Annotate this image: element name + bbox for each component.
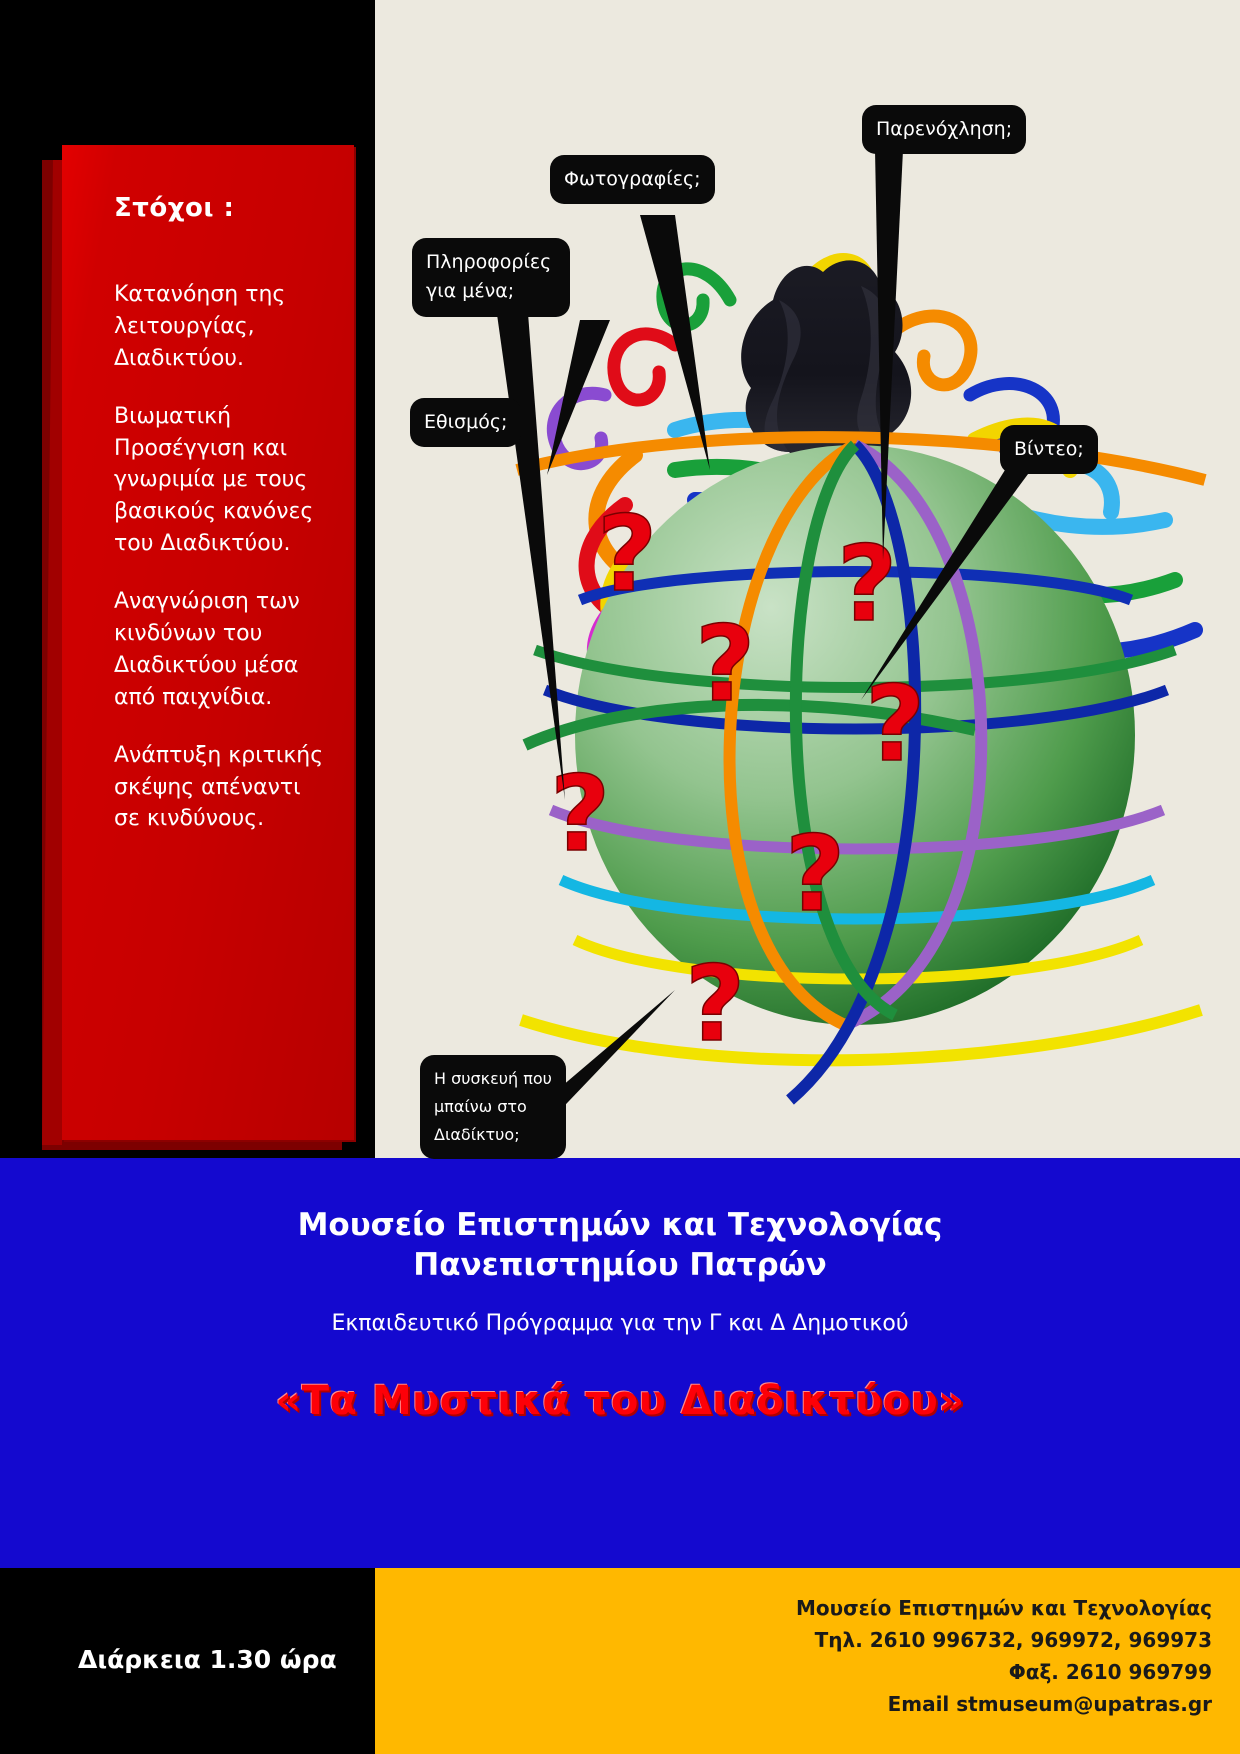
program-subtitle: Εκπαιδευτικό Πρόγραμμα για την Γ και Δ Δ… (0, 1311, 1240, 1336)
goal-item: Αναγνώριση των κινδύνων του Διαδικτύου μ… (114, 586, 324, 714)
svg-text:?: ? (837, 523, 897, 645)
svg-text:?: ? (695, 603, 755, 725)
program-title: «Τα Μυστικά του Διαδικτύου» (0, 1378, 1240, 1424)
globe-illustration: ? ? ? ? ? ? ? (375, 0, 1240, 1158)
bubble-addiction[interactable]: Εθισμός; (410, 398, 521, 447)
museum-name-line2: Πανεπιστημίου Πατρών (0, 1246, 1240, 1286)
bubble-harassment[interactable]: Παρενόχληση; (862, 105, 1026, 154)
svg-text:?: ? (785, 813, 845, 935)
contact-phone: Τηλ. 2610 996732, 969972, 969973 (796, 1624, 1212, 1656)
contact-box: Μουσείο Επιστημών και Τεχνολογίας Τηλ. 2… (375, 1568, 1240, 1754)
contact-email[interactable]: Email stmuseum@upatras.gr (796, 1688, 1212, 1720)
goal-item: Βιωματική Προσέγγιση και γνωριμία με του… (114, 401, 324, 560)
duration-label: Διάρκεια 1.30 ώρα (78, 1645, 337, 1674)
bubble-photos[interactable]: Φωτογραφίες; (550, 155, 715, 204)
svg-text:?: ? (685, 943, 745, 1065)
contact-fax: Φαξ. 2610 969799 (796, 1656, 1212, 1688)
contact-name: Μουσείο Επιστημών και Τεχνολογίας (796, 1592, 1212, 1624)
svg-text:?: ? (865, 663, 925, 785)
goals-card: Στόχοι : Κατανόηση της λειτουργίας, Διαδ… (62, 145, 354, 1140)
poster-root: ? ? ? ? ? ? ? Παρενόχληση; Φωτογραφίες; … (0, 0, 1240, 1754)
museum-banner: Μουσείο Επιστημών και Τεχνολογίας Πανεπι… (0, 1158, 1240, 1598)
goal-item: Ανάπτυξη κριτικής σκέψης απέναντι σε κιν… (114, 740, 324, 836)
artwork-panel: ? ? ? ? ? ? ? (375, 0, 1240, 1158)
bubble-video[interactable]: Βίντεο; (1000, 425, 1098, 474)
goal-item: Κατανόηση της λειτουργίας, Διαδικτύου. (114, 279, 324, 375)
museum-name-line1: Μουσείο Επιστημών και Τεχνολογίας (0, 1158, 1240, 1246)
svg-text:?: ? (550, 753, 610, 875)
bubble-info-about-me[interactable]: Πληροφορίες για μένα; (412, 238, 570, 317)
svg-text:?: ? (597, 493, 657, 615)
bubble-device[interactable]: Η συσκευή που μπαίνω στο Διαδίκτυο; (420, 1055, 566, 1159)
goals-heading: Στόχοι : (114, 193, 324, 223)
